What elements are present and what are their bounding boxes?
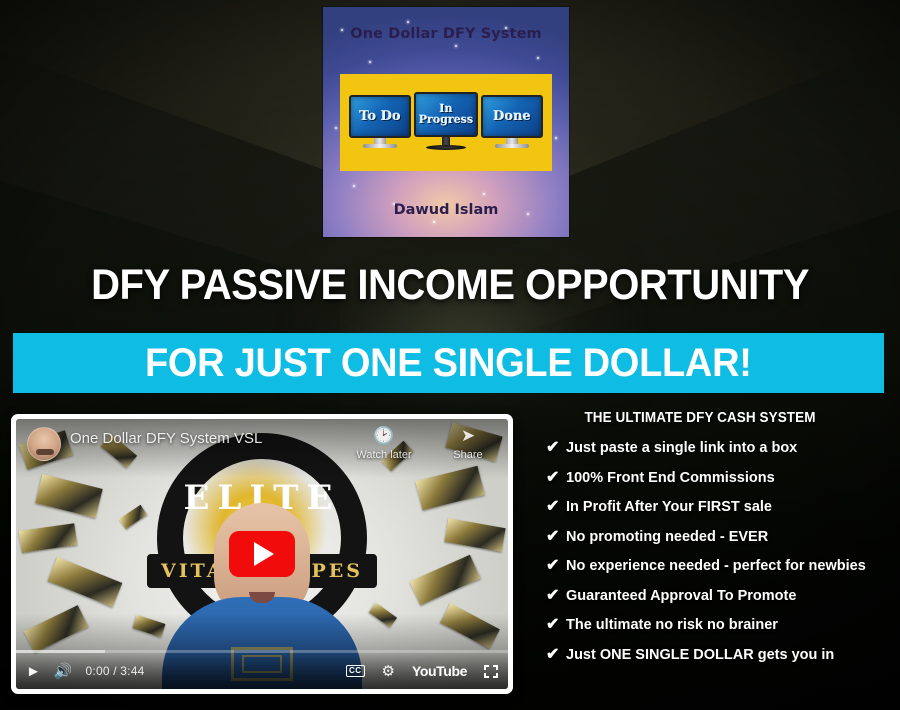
benefit-row: ✔The ultimate no risk no brainer [530,617,900,647]
video-title[interactable]: One Dollar DFY System VSL [70,430,262,447]
video-viewport[interactable]: ELITE VITA PES One Dollar DFY System VSL… [16,419,508,689]
monitor-group: To Do In Progress Done [340,74,552,171]
clock-icon: 🕑 [353,425,415,447]
benefit-row: ✔Just ONE SINGLE DOLLAR gets you in [530,647,900,677]
monitor-screen: Done [481,95,543,138]
share-arrow-icon: ➤ [437,425,499,447]
monitor-stand-base [363,144,397,148]
benefit-row: ✔No promoting needed - EVER [530,529,900,559]
youtube-brand-label[interactable]: YouTube [412,663,467,679]
share-label: Share [437,449,499,461]
monitor-screen: To Do [349,95,411,138]
benefit-label: Just paste a single link into a box [566,440,797,456]
monitor-in-progress: In Progress [414,92,478,150]
monitor-label: Done [493,110,531,123]
benefit-row: ✔Guaranteed Approval To Promote [530,588,900,618]
benefit-row: ✔In Profit After Your FIRST sale [530,499,900,529]
check-icon: ✔ [530,558,566,574]
check-icon: ✔ [530,617,566,633]
product-box-yellow-panel: To Do In Progress Done [340,74,552,171]
play-button[interactable] [229,531,295,577]
check-icon: ✔ [530,588,566,604]
benefit-row: ✔100% Front End Commissions [530,470,900,500]
play-icon[interactable]: ► [26,664,41,679]
video-controls: ► 🔊 0:00 / 3:44 CC ⚙ YouTube [16,653,508,689]
monitor-stand-base [426,145,466,150]
fullscreen-icon[interactable] [484,665,498,678]
page-headline: DFY PASSIVE INCOME OPPORTUNITY [32,264,869,307]
monitor-screen: In Progress [414,92,478,137]
monitor-label: In Progress [416,103,476,125]
share-button[interactable]: ➤ Share [437,425,499,461]
watch-later-button[interactable]: 🕑 Watch later [353,425,415,461]
product-box-title: One Dollar DFY System [323,26,569,42]
benefit-row: ✔No experience needed - perfect for newb… [530,558,900,588]
monitor-label: To Do [359,110,400,123]
video-player[interactable]: ELITE VITA PES One Dollar DFY System VSL… [11,414,513,694]
video-controls-right: CC ⚙ YouTube [346,663,498,679]
benefit-label: The ultimate no risk no brainer [566,617,778,633]
landing-page: One Dollar DFY System To Do In Progress [0,0,900,710]
monitor-stand-neck [442,137,450,145]
video-time: 0:00 / 3:44 [86,664,145,678]
price-banner-text: FOR JUST ONE SINGLE DOLLAR! [145,343,752,383]
benefits-section: THE ULTIMATE DFY CASH SYSTEM ✔Just paste… [530,410,900,676]
check-icon: ✔ [530,470,566,486]
benefit-label: In Profit After Your FIRST sale [566,499,772,515]
check-icon: ✔ [530,499,566,515]
video-controls-left: ► 🔊 0:00 / 3:44 [26,664,144,679]
gear-icon[interactable]: ⚙ [382,664,395,679]
benefit-row: ✔Just paste a single link into a box [530,440,900,470]
check-icon: ✔ [530,529,566,545]
product-box-author: Dawud Islam [323,202,569,218]
video-top-actions: 🕑 Watch later ➤ Share [353,425,499,461]
benefit-label: Guaranteed Approval To Promote [566,588,796,604]
benefit-label: Just ONE SINGLE DOLLAR gets you in [566,647,834,663]
play-triangle-icon [254,542,274,566]
price-banner: FOR JUST ONE SINGLE DOLLAR! [13,333,884,393]
benefits-list: ✔Just paste a single link into a box✔100… [530,440,900,676]
benefit-label: No experience needed - perfect for newbi… [566,558,866,574]
benefits-title: THE ULTIMATE DFY CASH SYSTEM [542,410,858,426]
channel-avatar[interactable] [27,427,61,461]
watch-later-label: Watch later [353,449,415,461]
product-box-image: One Dollar DFY System To Do In Progress [323,7,569,237]
volume-icon[interactable]: 🔊 [54,664,73,679]
captions-button[interactable]: CC [346,665,365,677]
monitor-done: Done [481,95,543,148]
check-icon: ✔ [530,647,566,663]
monitor-stand-base [495,144,529,148]
check-icon: ✔ [530,440,566,456]
benefit-label: No promoting needed - EVER [566,529,768,545]
monitor-to-do: To Do [349,95,411,148]
benefit-label: 100% Front End Commissions [566,470,775,486]
